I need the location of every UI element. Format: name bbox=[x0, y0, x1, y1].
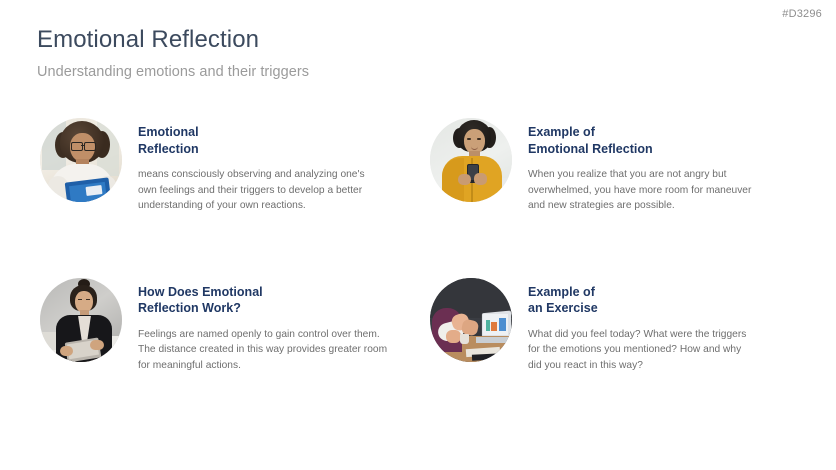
card-emotional-reflection[interactable]: Emotional Reflection means consciously o… bbox=[0, 118, 395, 214]
card-text: When you realize that you are not angry … bbox=[528, 167, 836, 214]
card-body: Example of Emotional Reflection When you… bbox=[512, 118, 836, 214]
card-text: What did you feel today? What were the t… bbox=[528, 327, 836, 374]
card-title: How Does Emotional Reflection Work? bbox=[138, 284, 395, 317]
page-title: Emotional Reflection bbox=[37, 26, 309, 54]
card-title: Example of Emotional Reflection bbox=[528, 124, 836, 157]
woman-reading-blue-book-photo bbox=[40, 118, 122, 202]
slide-header: Emotional Reflection Understanding emoti… bbox=[37, 26, 309, 81]
card-example-of-an-exercise[interactable]: Example of an Exercise What did you feel… bbox=[395, 278, 836, 374]
woman-black-blazer-tablet-photo bbox=[40, 278, 122, 362]
card-row: Emotional Reflection means consciously o… bbox=[0, 118, 836, 214]
card-title: Example of an Exercise bbox=[528, 284, 836, 317]
card-text: means consciously observing and analyzin… bbox=[138, 167, 395, 214]
card-body: How Does Emotional Reflection Work? Feel… bbox=[122, 278, 395, 374]
card-body: Emotional Reflection means consciously o… bbox=[122, 118, 395, 214]
slide-id-label: #D3296 bbox=[782, 8, 822, 20]
woman-mustard-shirt-phone-photo bbox=[430, 118, 512, 202]
meeting-hands-laptop-photo bbox=[430, 278, 512, 362]
card-example-of-emotional-reflection[interactable]: Example of Emotional Reflection When you… bbox=[395, 118, 836, 214]
card-text: Feelings are named openly to gain contro… bbox=[138, 327, 395, 374]
card-how-does-emotional-reflection-work[interactable]: How Does Emotional Reflection Work? Feel… bbox=[0, 278, 395, 374]
card-body: Example of an Exercise What did you feel… bbox=[512, 278, 836, 374]
card-grid: Emotional Reflection means consciously o… bbox=[0, 118, 836, 373]
card-title: Emotional Reflection bbox=[138, 124, 395, 157]
page-subtitle: Understanding emotions and their trigger… bbox=[37, 64, 309, 81]
card-row: How Does Emotional Reflection Work? Feel… bbox=[0, 278, 836, 374]
